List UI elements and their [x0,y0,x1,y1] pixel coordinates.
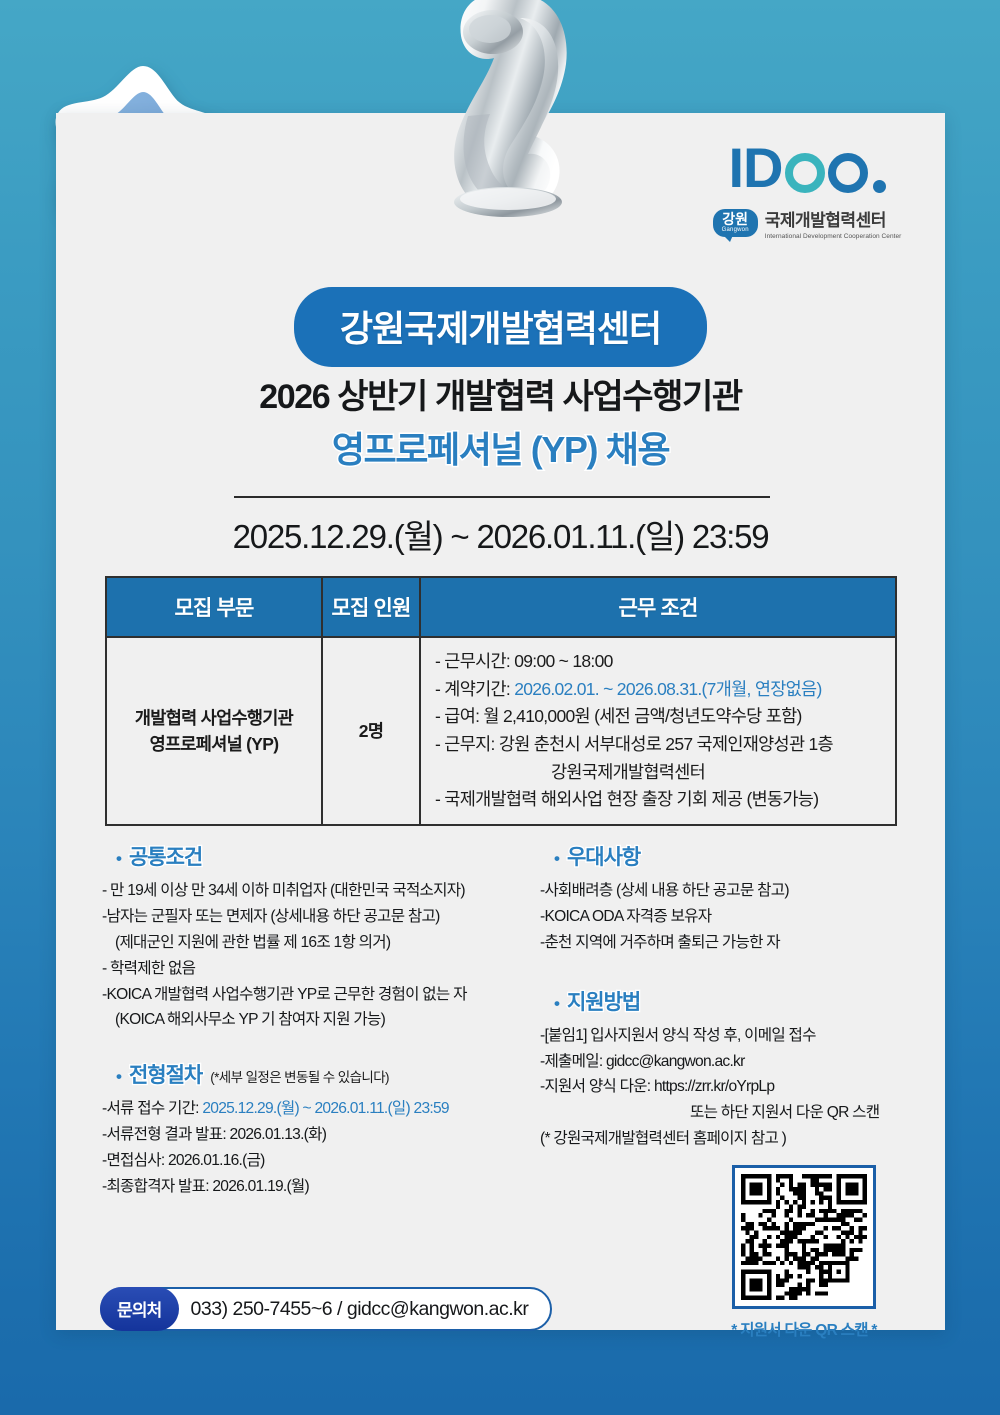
table-row: 개발협력 사업수행기관 영프로페셔널 (YP) 2명 - 근무시간: 09:00… [106,637,896,825]
common-conditions-list: - 만 19세 이상 만 34세 이하 미취업자 (대한민국 국적소지자)-남자… [102,878,522,1033]
preferences-heading-label: 우대사항 [567,841,640,871]
item-label: -최종합격자 발표: 2026.01.19.(월) [102,1178,309,1195]
poster-title-line1: 2026 상반기 개발협력 사업수행기관 [56,369,945,418]
list-item: 또는 하단 지원서 다운 QR 스캔 [540,1100,940,1126]
list-item: (제대군인 지원에 관한 법률 제 16조 1항 의거) [102,930,522,956]
bullet-icon: • [554,849,559,869]
gangwon-badge-kr: 강원 [722,212,749,226]
contact-tag: 문의처 [100,1287,179,1331]
list-item: (* 강원국제개발협력센터 홈페이지 참고 ) [540,1126,940,1152]
bullet-icon: • [116,1067,121,1087]
td-conditions: - 근무시간: 09:00 ~ 18:00- 계약기간: 2026.02.01.… [420,637,896,825]
list-item: (KOICA 해외사무소 YP 기 참여자 지원 가능) [102,1007,522,1033]
bullet-icon: • [554,994,559,1014]
logo-center-name: 국제개발협력센터 International Development Coope… [765,206,902,240]
gangwon-badge-en: Gangwon [722,227,749,233]
item-label: -서류전형 결과 발표: 2026.01.13.(화) [102,1126,326,1143]
contact-text: 033) 250-7455~6 / gidcc@kangwon.ac.kr [191,1298,529,1321]
section-common-conditions: • 공통조건 - 만 19세 이상 만 34세 이하 미취업자 (대한민국 국적… [102,841,522,1033]
work-conditions-list: - 근무시간: 09:00 ~ 18:00- 계약기간: 2026.02.01.… [429,648,887,814]
list-item: -사회배려층 (상세 내용 하단 공고문 참고) [540,878,940,904]
selection-process-heading-label: 전형절차 [129,1059,202,1089]
common-conditions-heading: • 공통조건 [102,841,522,871]
preferences-list: -사회배려층 (상세 내용 하단 공고문 참고)-KOICA ODA 자격증 보… [540,878,940,956]
td-count: 2명 [322,637,420,825]
list-item: -KOICA 개발협력 사업수행기관 YP로 근무한 경험이 없는 자 [102,982,522,1008]
qr-code[interactable] [732,1165,876,1309]
logo-name-kr: 국제개발협력센터 [765,206,902,231]
list-item: -지원서 양식 다운: https://zrr.kr/oYrpLp [540,1074,940,1100]
application-period: 2025.12.29.(월) ~ 2026.01.11.(일) 23:59 [56,510,945,558]
qr-section: * 지원서 다운 QR 스캔 * [724,1165,884,1340]
selection-process-note: (*세부 일정은 변동될 수 있습니다) [210,1066,389,1086]
section-selection-process: • 전형절차 (*세부 일정은 변동될 수 있습니다) -서류 접수 기간: 2… [102,1059,522,1200]
list-item: -KOICA ODA 자격증 보유자 [540,904,940,930]
list-item: -제출메일: gidcc@kangwon.ac.kr [540,1049,940,1075]
selection-process-heading: • 전형절차 (*세부 일정은 변동될 수 있습니다) [102,1059,522,1089]
logo-wordmark: ID [691,137,923,199]
list-item: -면접심사: 2026.01.16.(금) [102,1148,522,1174]
th-count: 모집 인원 [322,577,420,637]
title-divider [234,496,770,498]
list-item: - 근무시간: 09:00 ~ 18:00 [435,648,887,676]
common-conditions-heading-label: 공통조건 [129,841,202,871]
preferences-heading: • 우대사항 [540,841,940,871]
list-item: -남자는 군필자 또는 면제자 (상세내용 하단 공고문 참고) [102,904,522,930]
logo-id-text: ID [729,140,783,196]
logo-dot-icon [873,180,886,193]
bullet-icon: • [116,849,121,869]
org-pill: 강원국제개발협력센터 [56,287,945,367]
qr-code-image [741,1174,867,1300]
list-item: - 국제개발협력 해외사업 현장 출장 기회 제공 (변동가능) [435,786,887,814]
left-column: • 공통조건 - 만 19세 이상 만 34세 이하 미취업자 (대한민국 국적… [102,841,522,1217]
th-field: 모집 부문 [106,577,322,637]
item-label: -면접심사: 2026.01.16.(금) [102,1152,265,1169]
td-role: 개발협력 사업수행기관 영프로페셔널 (YP) [106,637,322,825]
item-highlight: 2026.02.01. ~ 2026.08.31.(7개월, 연장없음) [514,679,821,699]
list-item: -서류전형 결과 발표: 2026.01.13.(화) [102,1122,522,1148]
list-item: - 급여: 월 2,410,000원 (세전 금액/청년도약수당 포함) [435,703,887,731]
list-item: -서류 접수 기간: 2025.12.29.(월) ~ 2026.01.11.(… [102,1096,522,1122]
poster-title-line2: 영프로페셔널 (YP) 채용 [56,421,945,473]
item-label: - 근무지: 강원 춘천시 서부대성로 257 국제인재양성관 1층 [435,734,833,754]
logo-ring-blue-icon [828,153,868,193]
list-item: - 만 19세 이상 만 34세 이하 미취업자 (대한민국 국적소지자) [102,878,522,904]
selection-process-list: -서류 접수 기간: 2025.12.29.(월) ~ 2026.01.11.(… [102,1096,522,1200]
logo-subtitle: 강원 Gangwon 국제개발협력센터 International Develo… [691,206,923,240]
org-pill-label: 강원국제개발협력센터 [294,287,707,367]
logo-name-en: International Development Cooperation Ce… [765,233,902,240]
role-line2: 영프로페셔널 (YP) [115,731,313,757]
item-label: - 근무시간: 09:00 ~ 18:00 [435,651,613,671]
list-item: -최종합격자 발표: 2026.01.19.(월) [102,1174,522,1200]
right-column: • 우대사항 -사회배려층 (상세 내용 하단 공고문 참고)-KOICA OD… [540,841,940,1169]
list-item: 강원국제개발협력센터 [435,759,887,787]
recruitment-table: 모집 부문 모집 인원 근무 조건 개발협력 사업수행기관 영프로페셔널 (YP… [105,576,897,826]
list-item: - 학력제한 없음 [102,956,522,982]
gangwon-badge: 강원 Gangwon [713,209,758,237]
qr-caption: * 지원서 다운 QR 스캔 * [724,1318,884,1340]
how-to-apply-heading: • 지원방법 [540,986,940,1016]
list-item: -[붙임1] 입사지원서 양식 작성 후, 이메일 접수 [540,1023,940,1049]
list-item: - 근무지: 강원 춘천시 서부대성로 257 국제인재양성관 1층 [435,731,887,759]
contact-bar: 문의처 033) 250-7455~6 / gidcc@kangwon.ac.k… [100,1287,552,1331]
section-preferences: • 우대사항 -사회배려층 (상세 내용 하단 공고문 참고)-KOICA OD… [540,841,940,956]
list-item: - 계약기간: 2026.02.01. ~ 2026.08.31.(7개월, 연… [435,676,887,704]
item-label: - 국제개발협력 해외사업 현장 출장 기회 제공 (변동가능) [435,789,818,809]
list-item: -춘천 지역에 거주하며 출퇴근 가능한 자 [540,930,940,956]
how-to-apply-heading-label: 지원방법 [567,986,640,1016]
item-label: - 계약기간: [435,679,514,699]
item-label: -서류 접수 기간: [102,1100,202,1117]
item-label: - 급여: 월 2,410,000원 (세전 금액/청년도약수당 포함) [435,706,802,726]
how-to-apply-list: -[붙임1] 입사지원서 양식 작성 후, 이메일 접수-제출메일: gidcc… [540,1023,940,1152]
logo-ring-teal-icon [785,153,825,193]
poster-card: ID 강원 Gangwon 국제개발협력센터 International Dev… [56,113,945,1330]
item-highlight: 2025.12.29.(월) ~ 2026.01.11.(일) 23:59 [202,1100,448,1117]
item-label: 강원국제개발협력센터 [551,762,705,782]
role-line1: 개발협력 사업수행기관 [115,705,313,731]
idcc-logo: ID 강원 Gangwon 국제개발협력센터 International Dev… [691,137,923,240]
th-conditions: 근무 조건 [420,577,896,637]
table-header-row: 모집 부문 모집 인원 근무 조건 [106,577,896,637]
section-how-to-apply: • 지원방법 -[붙임1] 입사지원서 양식 작성 후, 이메일 접수-제출메일… [540,986,940,1152]
